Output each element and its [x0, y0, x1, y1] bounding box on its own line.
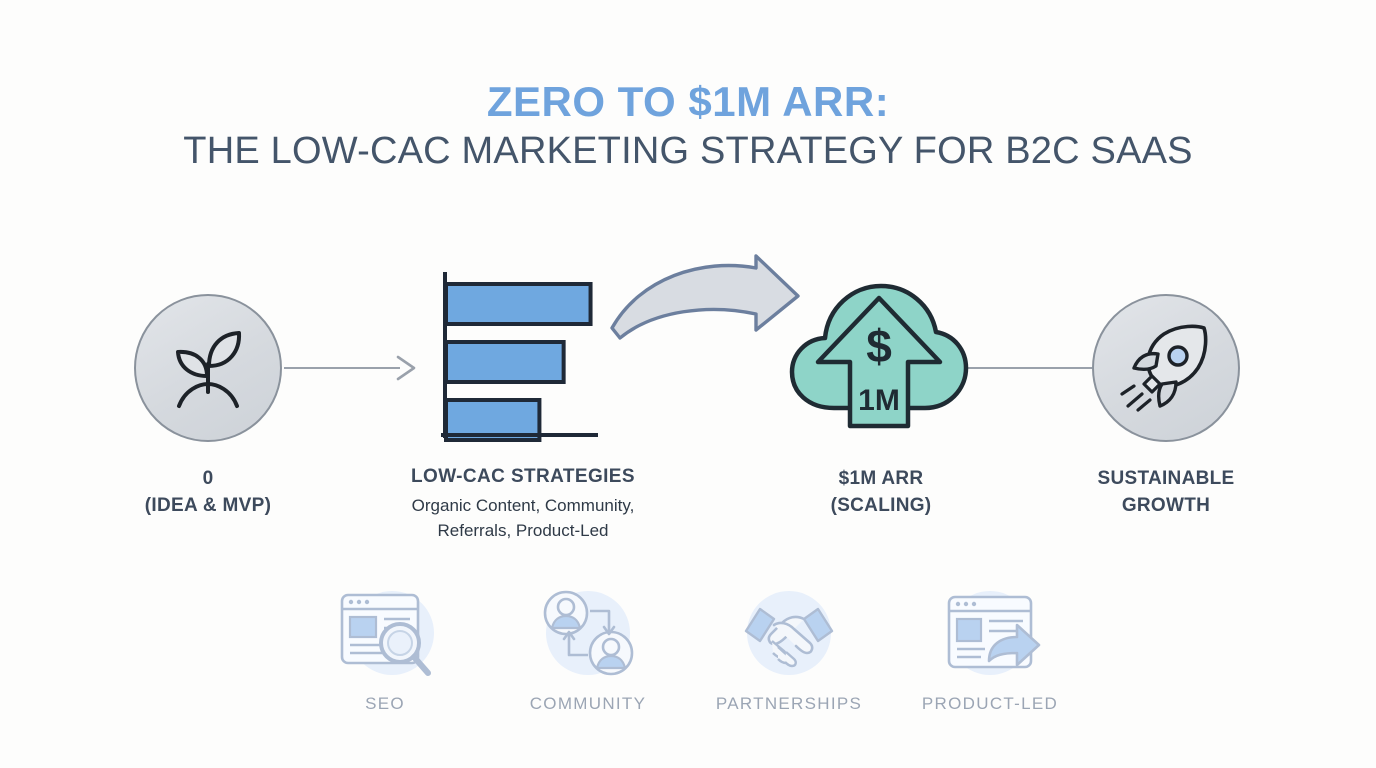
- infographic-canvas: ZERO TO $1M ARR: THE LOW-CAC MARKETING S…: [0, 0, 1376, 768]
- tactic-partnerships-label: PARTNERSHIPS: [714, 694, 864, 714]
- cloud-dollar-arrow-icon: $ 1M: [788, 276, 970, 442]
- tactic-product-led-label: PRODUCT-LED: [915, 694, 1065, 714]
- growth-node-circle[interactable]: [1092, 294, 1240, 442]
- strategies-description: Organic Content, Community, Referrals, P…: [373, 494, 673, 543]
- growth-node-label-line1: SUSTAINABLE: [1097, 468, 1234, 489]
- tactic-seo[interactable]: SEO: [310, 584, 460, 714]
- growth-node-label-line2: GROWTH: [1016, 493, 1316, 520]
- start-node-circle[interactable]: [134, 294, 282, 442]
- page-title: ZERO TO $1M ARR:: [0, 78, 1376, 126]
- tactic-seo-label: SEO: [310, 694, 460, 714]
- growth-node-label: SUSTAINABLE GROWTH: [1016, 466, 1316, 520]
- bar-chart-bars: [446, 284, 591, 440]
- seo-icon-wrap: [330, 584, 440, 684]
- arr-amount-label: 1M: [858, 384, 900, 417]
- browser-share-icon: [935, 585, 1045, 683]
- community-icon-wrap: [533, 584, 643, 684]
- arr-node-label: $1M ARR (SCALING): [731, 466, 1031, 520]
- tactic-product-led[interactable]: PRODUCT-LED: [915, 584, 1065, 714]
- start-node-label-line1: 0: [203, 468, 214, 489]
- rocket-icon: [1118, 322, 1214, 414]
- users-cycle-icon: [533, 585, 643, 683]
- partnerships-icon-wrap: [734, 584, 844, 684]
- dollar-sign-label: $: [866, 320, 892, 372]
- sprout-icon: [163, 324, 253, 412]
- browser-search-icon: [330, 585, 440, 683]
- arr-node-label-line1: $1M ARR: [839, 468, 924, 489]
- bar-chart-icon: [428, 272, 618, 447]
- arr-node-label-line2: (SCALING): [731, 493, 1031, 520]
- handshake-icon: [734, 585, 844, 683]
- tactic-community[interactable]: COMMUNITY: [513, 584, 663, 714]
- tactic-partnerships[interactable]: PARTNERSHIPS: [714, 584, 864, 714]
- start-node-label: 0 (IDEA & MVP): [58, 466, 358, 520]
- start-node-label-line2: (IDEA & MVP): [58, 493, 358, 520]
- product-led-icon-wrap: [935, 584, 1045, 684]
- page-subtitle: THE LOW-CAC MARKETING STRATEGY FOR B2C S…: [0, 130, 1376, 173]
- tactic-community-label: COMMUNITY: [513, 694, 663, 714]
- curved-progress-arrow-icon: [606, 252, 806, 352]
- strategies-title: LOW-CAC STRATEGIES: [323, 466, 723, 488]
